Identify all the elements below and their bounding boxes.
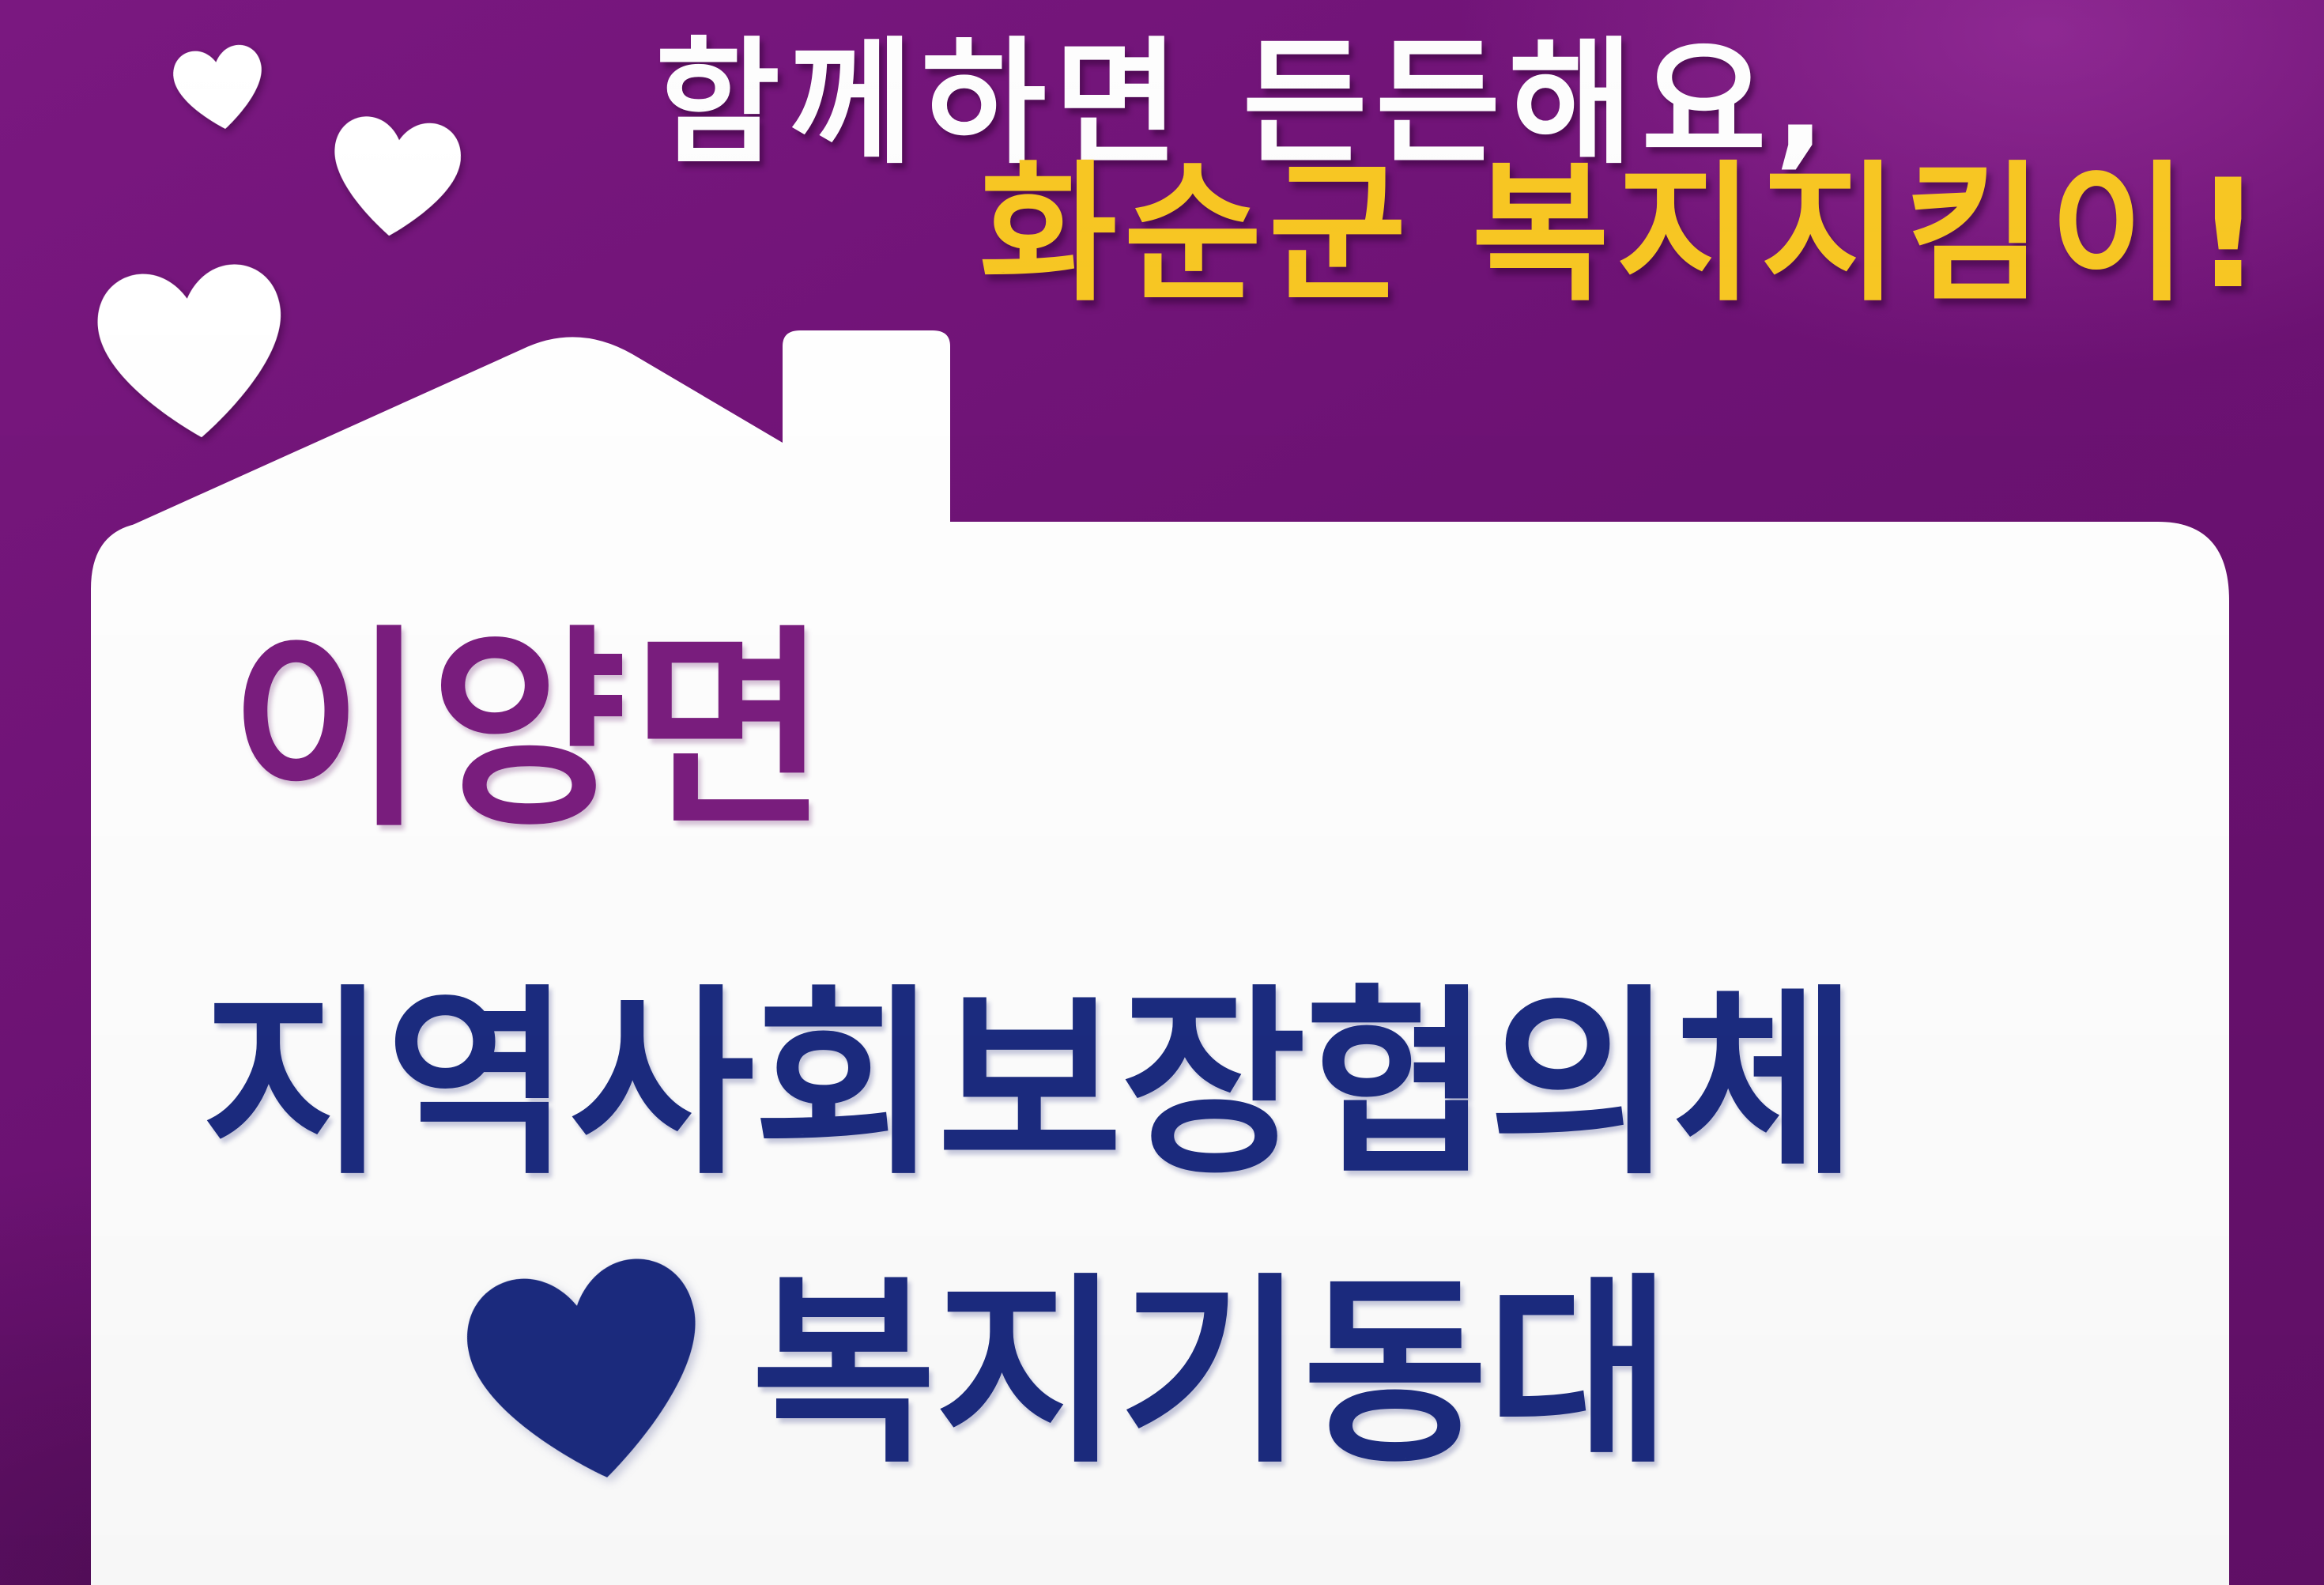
heart-icon-small [170, 42, 269, 136]
council-name: 지역사회보장협의체 [202, 984, 1856, 1186]
heart-icon-medium [326, 112, 465, 243]
signboard: 함께하면 든든해요, 화순군 복지지킴이! 이양면 지역사회보장협의체 복지기동… [0, 0, 2324, 1585]
squad-row: 복지기동대 [474, 1265, 1670, 1482]
heart-icon [457, 1247, 720, 1500]
squad-name: 복지기동대 [751, 1273, 1670, 1474]
heart-icon-large [92, 259, 292, 447]
tagline-line-1: 함께하면 든든해요, [0, 25, 1834, 182]
town-name: 이양면 [229, 625, 832, 838]
